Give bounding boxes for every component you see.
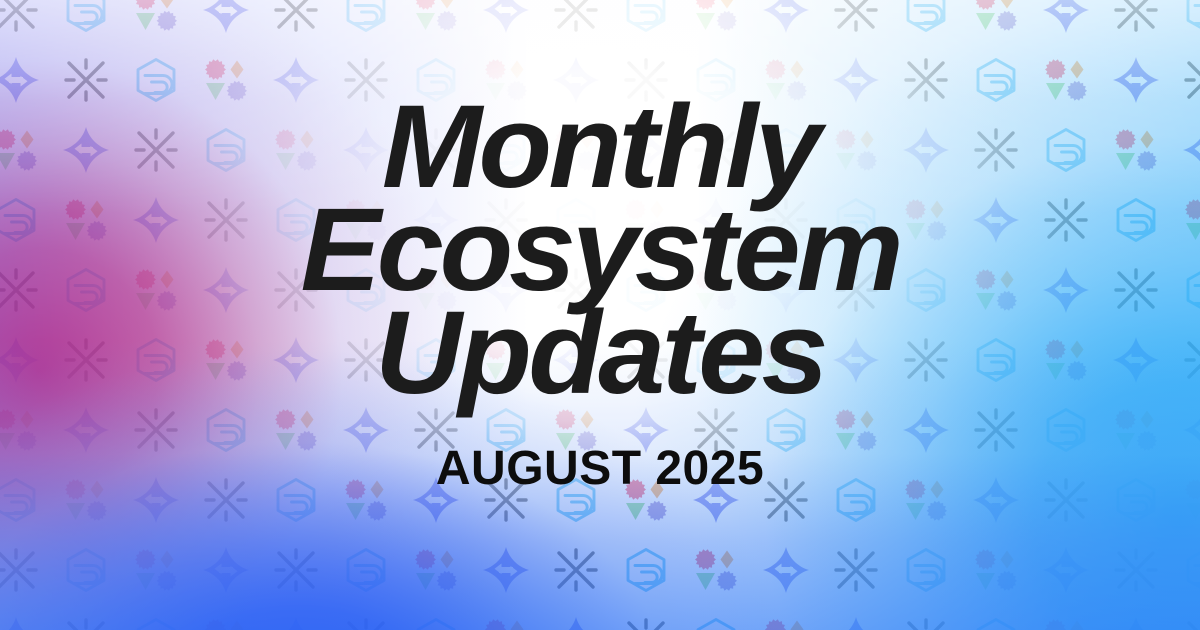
shape-cluster-icon	[1182, 476, 1200, 524]
shape-cluster-icon	[972, 266, 1020, 314]
shape-cluster-icon	[762, 56, 810, 104]
swap-diamond-icon	[1042, 266, 1090, 314]
hexagon-swirl-icon	[342, 0, 390, 34]
swap-diamond-icon	[272, 336, 320, 384]
starburst-icon	[202, 476, 250, 524]
starburst-icon	[202, 196, 250, 244]
starburst-icon	[762, 476, 810, 524]
swap-diamond-icon	[552, 336, 600, 384]
starburst-icon	[0, 546, 40, 594]
swap-diamond-icon	[552, 56, 600, 104]
shape-cluster-icon	[342, 196, 390, 244]
starburst-icon	[1112, 266, 1160, 314]
shape-cluster-icon	[132, 0, 180, 34]
hexagon-swirl-icon	[692, 336, 740, 384]
shape-cluster-icon	[62, 196, 110, 244]
swap-diamond-icon	[272, 616, 320, 630]
swap-diamond-icon	[552, 616, 600, 630]
starburst-icon	[552, 0, 600, 34]
shape-cluster-icon	[342, 476, 390, 524]
hexagon-swirl-icon	[62, 266, 110, 314]
starburst-icon	[272, 266, 320, 314]
hexagon-swirl-icon	[1042, 406, 1090, 454]
starburst-icon	[622, 56, 670, 104]
shape-cluster-icon	[622, 476, 670, 524]
hexagon-swirl-icon	[132, 616, 180, 630]
shape-cluster-icon	[412, 266, 460, 314]
starburst-icon	[692, 406, 740, 454]
swap-diamond-icon	[832, 616, 880, 630]
starburst-icon	[552, 266, 600, 314]
starburst-icon	[342, 56, 390, 104]
swap-diamond-icon	[622, 406, 670, 454]
shape-cluster-icon	[692, 546, 740, 594]
hexagon-swirl-icon	[412, 336, 460, 384]
hexagon-swirl-icon	[622, 266, 670, 314]
swap-diamond-icon	[202, 266, 250, 314]
starburst-icon	[902, 56, 950, 104]
swap-diamond-icon	[692, 196, 740, 244]
hexagon-swirl-icon	[1112, 196, 1160, 244]
shape-cluster-icon	[0, 126, 40, 174]
starburst-icon	[552, 546, 600, 594]
shape-cluster-icon	[482, 56, 530, 104]
starburst-icon	[1182, 56, 1200, 104]
hexagon-swirl-icon	[272, 196, 320, 244]
hexagon-swirl-icon	[1182, 0, 1200, 34]
swap-diamond-icon	[132, 476, 180, 524]
shape-cluster-icon	[202, 56, 250, 104]
swap-diamond-icon	[132, 196, 180, 244]
starburst-icon	[1182, 616, 1200, 630]
hexagon-swirl-icon	[692, 616, 740, 630]
shape-cluster-icon	[202, 336, 250, 384]
swap-diamond-icon	[902, 126, 950, 174]
swap-diamond-icon	[1182, 406, 1200, 454]
swap-diamond-icon	[692, 476, 740, 524]
swap-diamond-icon	[1112, 336, 1160, 384]
hexagon-swirl-icon	[972, 616, 1020, 630]
starburst-icon	[832, 0, 880, 34]
starburst-icon	[1042, 476, 1090, 524]
starburst-icon	[692, 126, 740, 174]
swap-diamond-icon	[272, 56, 320, 104]
hexagon-swirl-icon	[482, 126, 530, 174]
swap-diamond-icon	[0, 336, 40, 384]
starburst-icon	[412, 406, 460, 454]
shape-cluster-icon	[622, 196, 670, 244]
starburst-icon	[272, 546, 320, 594]
hexagon-swirl-icon	[342, 266, 390, 314]
shape-cluster-icon	[132, 266, 180, 314]
swap-diamond-icon	[202, 0, 250, 34]
starburst-icon	[1112, 546, 1160, 594]
hexagon-swirl-icon	[762, 126, 810, 174]
hexagon-swirl-icon	[62, 0, 110, 34]
shape-cluster-icon	[972, 546, 1020, 594]
starburst-icon	[62, 616, 110, 630]
starburst-icon	[272, 0, 320, 34]
starburst-icon	[482, 476, 530, 524]
hexagon-swirl-icon	[622, 546, 670, 594]
hexagon-swirl-icon	[902, 0, 950, 34]
swap-diamond-icon	[762, 546, 810, 594]
hexagon-swirl-icon	[482, 406, 530, 454]
swap-diamond-icon	[412, 476, 460, 524]
swap-diamond-icon	[202, 546, 250, 594]
hexagon-swirl-icon	[692, 56, 740, 104]
shape-cluster-icon	[832, 406, 880, 454]
hexagon-swirl-icon	[1042, 126, 1090, 174]
icon-pattern-layer	[0, 0, 1200, 630]
shape-cluster-icon	[272, 126, 320, 174]
starburst-icon	[902, 336, 950, 384]
swap-diamond-icon	[972, 476, 1020, 524]
starburst-icon	[832, 546, 880, 594]
hexagon-swirl-icon	[762, 406, 810, 454]
swap-diamond-icon	[762, 266, 810, 314]
shape-cluster-icon	[1042, 56, 1090, 104]
starburst-icon	[62, 336, 110, 384]
starburst-icon	[342, 616, 390, 630]
swap-diamond-icon	[1112, 56, 1160, 104]
hexagon-swirl-icon	[972, 336, 1020, 384]
shape-cluster-icon	[902, 476, 950, 524]
swap-diamond-icon	[1042, 546, 1090, 594]
starburst-icon	[762, 196, 810, 244]
hexagon-swirl-icon	[832, 476, 880, 524]
hexagon-swirl-icon	[412, 56, 460, 104]
hexagon-swirl-icon	[552, 476, 600, 524]
swap-diamond-icon	[482, 546, 530, 594]
shape-cluster-icon	[552, 126, 600, 174]
hexagon-swirl-icon	[552, 196, 600, 244]
shape-cluster-icon	[762, 616, 810, 630]
hexagon-swirl-icon	[622, 0, 670, 34]
starburst-icon	[132, 406, 180, 454]
hexagon-swirl-icon	[132, 56, 180, 104]
starburst-icon	[0, 0, 40, 34]
hexagon-swirl-icon	[832, 196, 880, 244]
starburst-icon	[832, 266, 880, 314]
swap-diamond-icon	[902, 406, 950, 454]
swap-diamond-icon	[342, 126, 390, 174]
shape-cluster-icon	[62, 476, 110, 524]
starburst-icon	[0, 266, 40, 314]
shape-cluster-icon	[692, 266, 740, 314]
swap-diamond-icon	[342, 406, 390, 454]
shape-cluster-icon	[412, 0, 460, 34]
shape-cluster-icon	[552, 406, 600, 454]
swap-diamond-icon	[832, 56, 880, 104]
shape-cluster-icon	[1042, 616, 1090, 630]
swap-diamond-icon	[622, 126, 670, 174]
shape-cluster-icon	[1112, 406, 1160, 454]
shape-cluster-icon	[132, 546, 180, 594]
swap-diamond-icon	[412, 196, 460, 244]
shape-cluster-icon	[482, 616, 530, 630]
starburst-icon	[412, 126, 460, 174]
hexagon-swirl-icon	[132, 336, 180, 384]
starburst-icon	[1112, 0, 1160, 34]
hexagon-swirl-icon	[902, 546, 950, 594]
starburst-icon	[972, 126, 1020, 174]
swap-diamond-icon	[482, 266, 530, 314]
hexagon-swirl-icon	[342, 546, 390, 594]
shape-cluster-icon	[482, 336, 530, 384]
hexagon-swirl-icon	[272, 476, 320, 524]
starburst-icon	[482, 196, 530, 244]
hexagon-swirl-icon	[902, 266, 950, 314]
hexagon-swirl-icon	[1182, 546, 1200, 594]
starburst-icon	[622, 616, 670, 630]
hexagon-swirl-icon	[0, 196, 40, 244]
swap-diamond-icon	[62, 406, 110, 454]
shape-cluster-icon	[1182, 196, 1200, 244]
shape-cluster-icon	[1112, 126, 1160, 174]
starburst-icon	[622, 336, 670, 384]
starburst-icon	[902, 616, 950, 630]
shape-cluster-icon	[692, 0, 740, 34]
shape-cluster-icon	[412, 546, 460, 594]
hexagon-swirl-icon	[1112, 476, 1160, 524]
starburst-icon	[342, 336, 390, 384]
starburst-icon	[972, 406, 1020, 454]
shape-cluster-icon	[1042, 336, 1090, 384]
starburst-icon	[62, 56, 110, 104]
starburst-icon	[1042, 196, 1090, 244]
hexagon-swirl-icon	[412, 616, 460, 630]
swap-diamond-icon	[1112, 616, 1160, 630]
swap-diamond-icon	[762, 0, 810, 34]
shape-cluster-icon	[902, 196, 950, 244]
hexagon-swirl-icon	[0, 476, 40, 524]
hexagon-swirl-icon	[972, 56, 1020, 104]
starburst-icon	[1182, 336, 1200, 384]
shape-cluster-icon	[762, 336, 810, 384]
shape-cluster-icon	[202, 616, 250, 630]
hexagon-swirl-icon	[202, 406, 250, 454]
swap-diamond-icon	[1182, 126, 1200, 174]
banner-root: Monthly Ecosystem Updates AUGUST 2025	[0, 0, 1200, 630]
shape-cluster-icon	[0, 406, 40, 454]
swap-diamond-icon	[62, 126, 110, 174]
swap-diamond-icon	[972, 196, 1020, 244]
hexagon-swirl-icon	[202, 126, 250, 174]
swap-diamond-icon	[1042, 0, 1090, 34]
swap-diamond-icon	[0, 616, 40, 630]
shape-cluster-icon	[972, 0, 1020, 34]
swap-diamond-icon	[482, 0, 530, 34]
shape-cluster-icon	[272, 406, 320, 454]
shape-cluster-icon	[832, 126, 880, 174]
starburst-icon	[132, 126, 180, 174]
swap-diamond-icon	[0, 56, 40, 104]
swap-diamond-icon	[832, 336, 880, 384]
hexagon-swirl-icon	[1182, 266, 1200, 314]
hexagon-swirl-icon	[62, 546, 110, 594]
